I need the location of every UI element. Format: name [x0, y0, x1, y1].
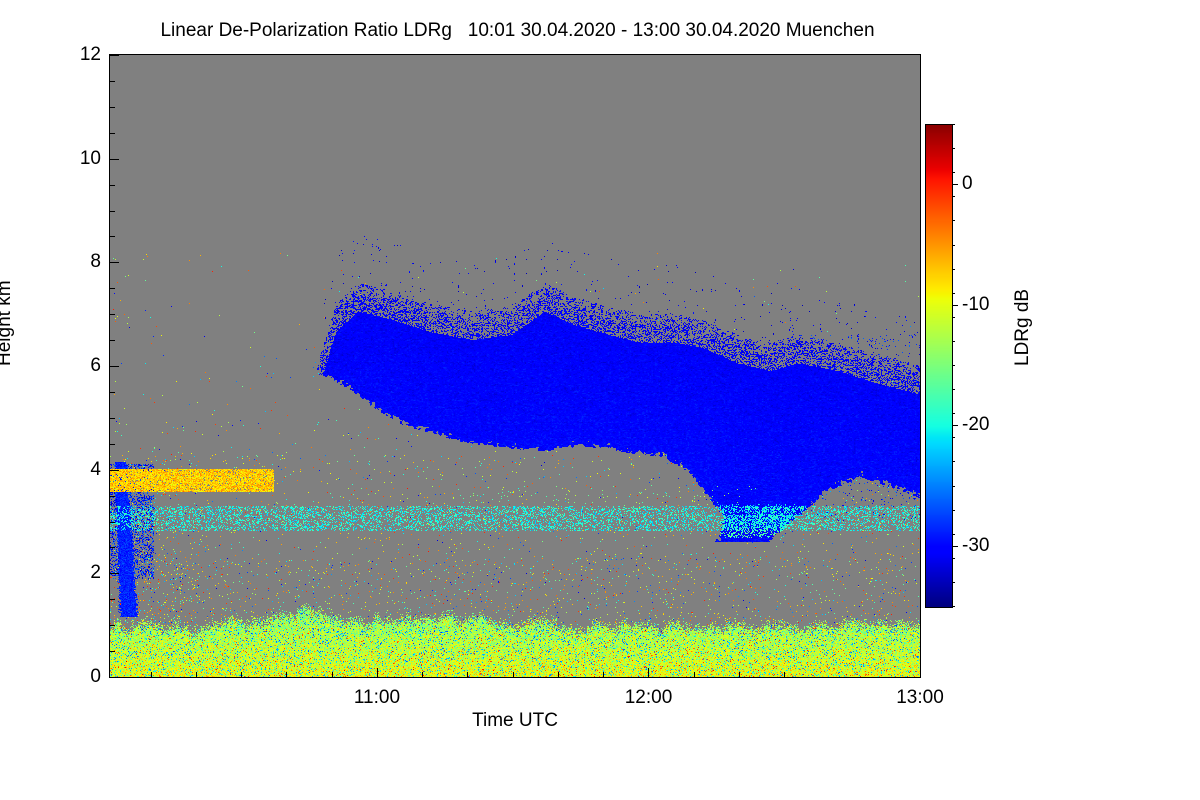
x-tick-minor [286, 672, 287, 677]
y-tick-label-0: 0 [90, 666, 101, 688]
colorbar-tick-minor [952, 365, 955, 366]
colorbar-tick-minor [952, 220, 955, 221]
colorbar-tick-minor [952, 413, 955, 414]
colorbar-tick-minor [952, 317, 955, 318]
y-tick-major [110, 366, 119, 367]
y-tick-minor [110, 392, 115, 393]
colorbar-tick-label-1: -10 [962, 294, 989, 316]
y-axis-title: Height km [0, 280, 16, 366]
y-tick-label-6: 12 [80, 44, 101, 66]
colorbar-tick-label-3: -30 [962, 535, 989, 557]
x-tick-minor [603, 672, 604, 677]
y-tick-major [110, 573, 119, 574]
y-tick-label-5: 10 [80, 148, 101, 170]
x-tick-minor [196, 672, 197, 677]
colorbar-tick-minor [952, 245, 955, 246]
x-tick-major [377, 668, 378, 677]
colorbar-tick-minor [952, 461, 955, 462]
x-tick-major [920, 668, 921, 677]
x-tick-minor [739, 672, 740, 677]
x-tick-minor [694, 672, 695, 677]
y-tick-label-3: 6 [90, 355, 101, 377]
y-tick-minor [110, 496, 115, 497]
colorbar-tick-minor [952, 148, 955, 149]
colorbar-tick-minor [952, 582, 955, 583]
y-tick-minor [110, 599, 115, 600]
colorbar-gradient [926, 125, 952, 607]
y-tick-label-1: 2 [90, 562, 101, 584]
x-tick-minor [422, 672, 423, 677]
x-tick-minor [332, 672, 333, 677]
y-tick-major [110, 262, 119, 263]
y-tick-minor [110, 288, 115, 289]
y-tick-major [110, 55, 119, 56]
colorbar-tick-major [952, 425, 958, 426]
y-tick-minor [110, 522, 115, 523]
x-tick-minor [513, 672, 514, 677]
y-tick-minor [110, 444, 115, 445]
colorbar-tick-minor [952, 437, 955, 438]
x-tick-label-1: 12:00 [625, 687, 673, 709]
x-tick-label-0: 11:00 [354, 687, 400, 709]
y-tick-minor [110, 625, 115, 626]
plot-title: Linear De-Polarization Ratio LDRg 10:01 … [0, 20, 1035, 42]
y-tick-minor [110, 236, 115, 237]
x-tick-minor [467, 672, 468, 677]
heatmap-plot-area[interactable] [110, 55, 920, 677]
x-tick-minor [558, 672, 559, 677]
colorbar-tick-minor [952, 534, 955, 535]
colorbar-tick-label-2: -20 [962, 414, 989, 436]
x-tick-minor [241, 672, 242, 677]
colorbar-tick-minor [952, 269, 955, 270]
y-tick-minor [110, 81, 115, 82]
y-tick-minor [110, 418, 115, 419]
y-tick-major [110, 677, 119, 678]
radar-figure: Linear De-Polarization Ratio LDRg 10:01 … [0, 0, 1200, 800]
colorbar-tick-major [952, 184, 958, 185]
y-tick-minor [110, 107, 115, 108]
heatmap-canvas[interactable] [110, 55, 920, 677]
x-tick-minor [784, 672, 785, 677]
colorbar-tick-minor [952, 389, 955, 390]
x-tick-label-2: 13:00 [896, 687, 944, 709]
colorbar-tick-minor [952, 293, 955, 294]
colorbar-tick-minor [952, 172, 955, 173]
y-tick-minor [110, 547, 115, 548]
x-tick-major [648, 668, 649, 677]
colorbar-tick-minor [952, 558, 955, 559]
colorbar-tick-major [952, 305, 958, 306]
y-tick-minor [110, 340, 115, 341]
colorbar-tick-minor [952, 124, 955, 125]
y-tick-major [110, 470, 119, 471]
y-tick-major [110, 159, 119, 160]
x-tick-minor [151, 672, 152, 677]
y-tick-label-4: 8 [90, 251, 101, 273]
colorbar-title: LDRg dB [1012, 289, 1034, 366]
colorbar-tick-minor [952, 510, 955, 511]
y-tick-minor [110, 314, 115, 315]
y-tick-label-2: 4 [90, 459, 101, 481]
colorbar-tick-minor [952, 341, 955, 342]
colorbar-tick-minor [952, 486, 955, 487]
colorbar-tick-minor [952, 196, 955, 197]
colorbar-tick-minor [952, 606, 955, 607]
colorbar-tick-label-0: 0 [962, 173, 973, 195]
y-tick-minor [110, 185, 115, 186]
y-tick-minor [110, 211, 115, 212]
y-tick-minor [110, 651, 115, 652]
colorbar[interactable] [926, 125, 952, 607]
x-axis-title: Time UTC [110, 710, 920, 732]
y-tick-minor [110, 133, 115, 134]
colorbar-tick-major [952, 546, 958, 547]
